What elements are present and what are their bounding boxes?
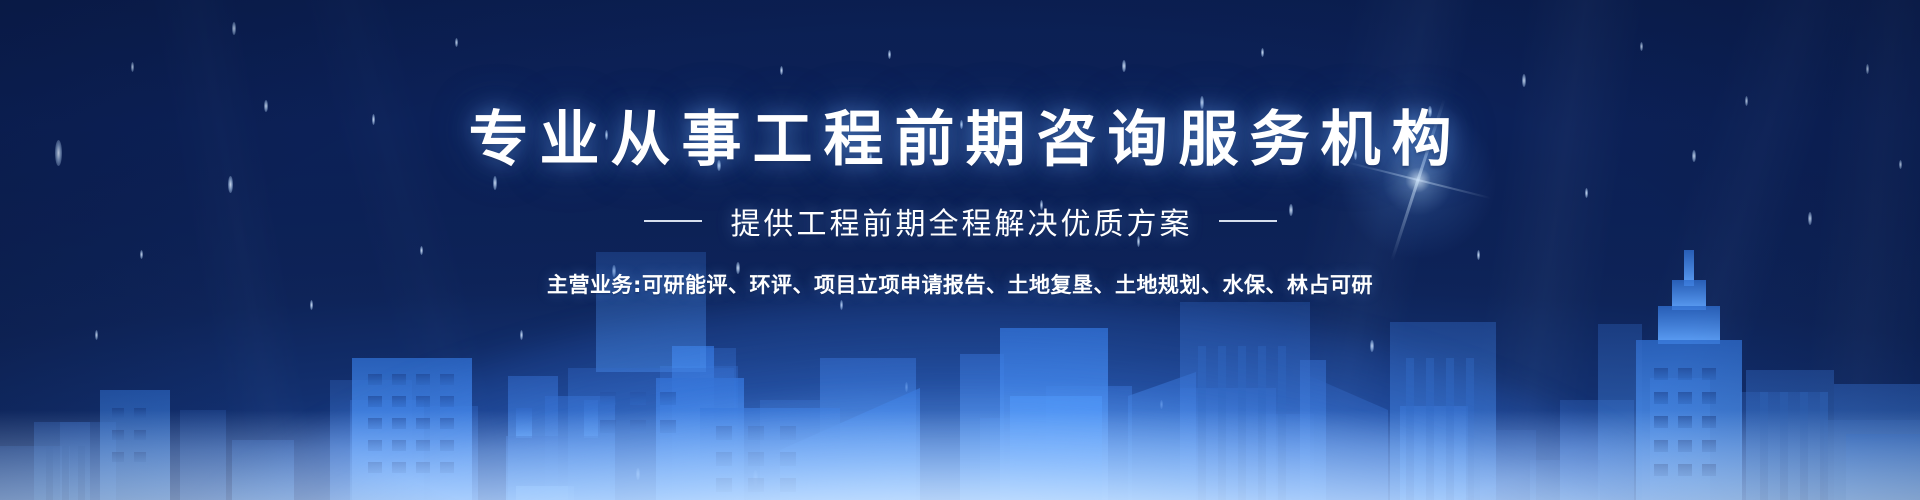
hero-banner: 专业从事工程前期咨询服务机构 提供工程前期全程解决优质方案 主营业务:可研能评、…	[0, 0, 1920, 500]
banner-subtitle-row: 提供工程前期全程解决优质方案	[0, 199, 1920, 243]
divider-rule-left	[644, 220, 702, 222]
banner-services-line: 主营业务:可研能评、环评、项目立项申请报告、土地复垦、土地规划、水保、林占可研	[0, 269, 1920, 299]
banner-text-block: 专业从事工程前期咨询服务机构 提供工程前期全程解决优质方案 主营业务:可研能评、…	[0, 108, 1920, 299]
divider-rule-right	[1219, 220, 1277, 222]
banner-headline: 专业从事工程前期咨询服务机构	[0, 108, 1920, 173]
banner-subtitle: 提供工程前期全程解决优质方案	[728, 199, 1193, 243]
